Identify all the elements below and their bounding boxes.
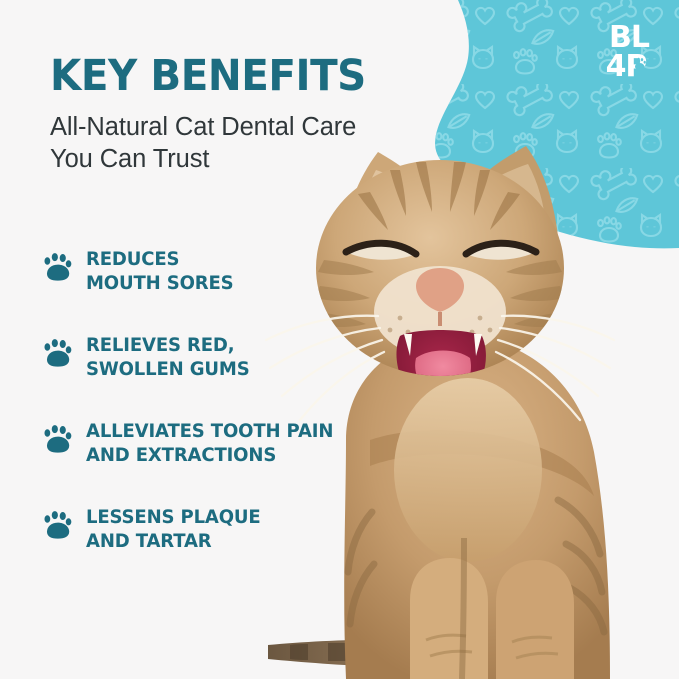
page-subtitle: All-Natural Cat Dental Care You Can Trus… — [50, 111, 380, 176]
list-item-label: ALLEVIATES TOOTH PAIN AND EXTRACTIONS — [86, 420, 356, 468]
cat-body — [344, 336, 610, 679]
paw-print-icon — [44, 253, 72, 281]
cat-open-mouth — [396, 330, 485, 409]
brand-logo-mark: BL 4P — [593, 14, 665, 86]
page-title: KEY BENEFITS — [50, 54, 360, 99]
paw-print-icon — [44, 425, 72, 453]
benefits-list: REDUCES MOUTH SORES RELIEVES RED, SWOLLE… — [44, 248, 364, 564]
brand-logo: BL 4P — [593, 14, 665, 86]
list-item: REDUCES MOUTH SORES — [44, 248, 364, 306]
list-item-label: RELIEVES RED, SWOLLEN GUMS — [86, 334, 356, 382]
list-item-label: REDUCES MOUTH SORES — [86, 248, 356, 296]
paw-print-icon — [44, 511, 72, 539]
cat-tail — [268, 639, 526, 667]
list-item: LESSENS PLAQUE AND TARTAR — [44, 506, 364, 564]
list-item-label: LESSENS PLAQUE AND TARTAR — [86, 506, 356, 554]
poster-canvas: BL 4P — [0, 0, 679, 679]
headings-block: KEY BENEFITS All-Natural Cat Dental Care… — [50, 54, 380, 176]
paw-print-icon — [44, 339, 72, 367]
list-item: ALLEVIATES TOOTH PAIN AND EXTRACTIONS — [44, 420, 364, 478]
cat-eye-right — [466, 243, 536, 260]
list-item: RELIEVES RED, SWOLLEN GUMS — [44, 334, 364, 392]
